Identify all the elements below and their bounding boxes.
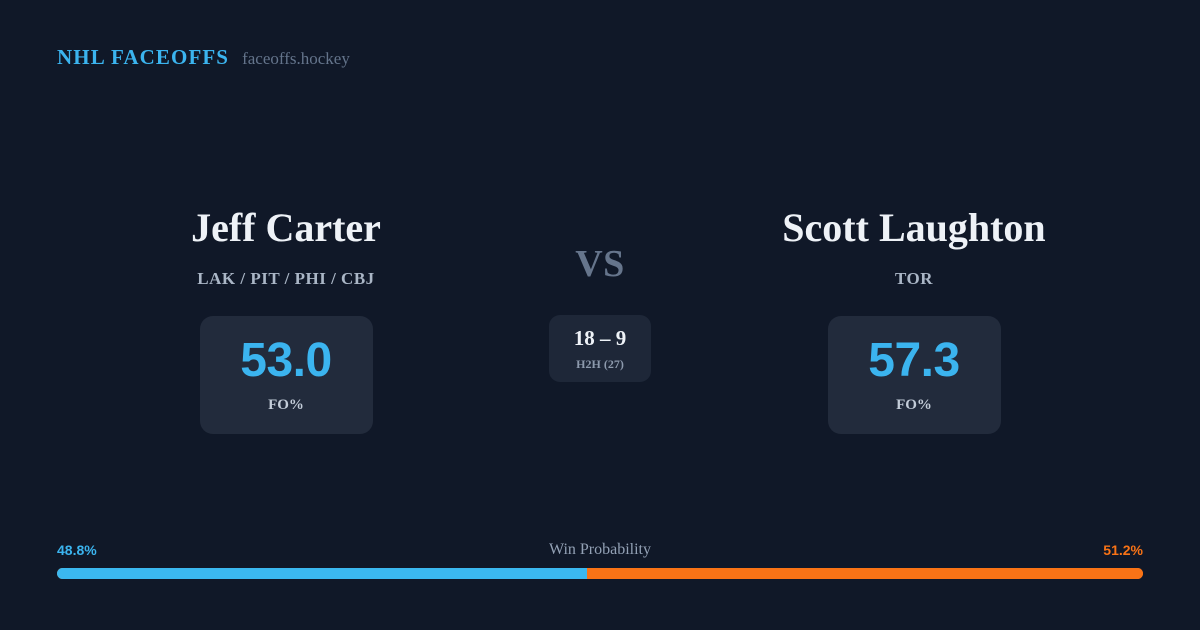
versus-column: VS 18 – 9 H2H (27) xyxy=(500,190,700,382)
head-to-head-label: H2H (27) xyxy=(576,358,624,370)
win-probability-bar-left xyxy=(57,568,587,579)
brand-title: NHL FACEOFFS xyxy=(57,47,229,68)
stat-value-left: 53.0 xyxy=(240,337,331,385)
stat-card-left: 53.0 FO% xyxy=(200,316,373,434)
win-probability-labels: 48.8% Win Probability 51.2% xyxy=(57,540,1143,560)
head-to-head-score: 18 – 9 xyxy=(574,328,627,349)
win-probability-right-value: 51.2% xyxy=(1103,540,1143,560)
win-probability-bar-right xyxy=(587,568,1143,579)
brand-header: NHL FACEOFFS faceoffs.hockey xyxy=(57,47,350,68)
matchup-section: Jeff Carter LAK / PIT / PHI / CBJ 53.0 F… xyxy=(0,190,1200,440)
player-panel-left: Jeff Carter LAK / PIT / PHI / CBJ 53.0 F… xyxy=(46,190,526,434)
win-probability-bar xyxy=(57,568,1143,579)
stat-label-left: FO% xyxy=(268,398,304,413)
stat-value-right: 57.3 xyxy=(868,337,959,385)
stat-card-right: 57.3 FO% xyxy=(828,316,1001,434)
win-probability-title: Win Probability xyxy=(57,540,1143,560)
win-probability-section: 48.8% Win Probability 51.2% xyxy=(57,540,1143,579)
player-panel-right: Scott Laughton TOR 57.3 FO% xyxy=(674,190,1154,434)
player-name-left: Jeff Carter xyxy=(191,208,381,248)
brand-subtitle: faceoffs.hockey xyxy=(242,50,350,67)
player-name-right: Scott Laughton xyxy=(782,208,1045,248)
player-teams-left: LAK / PIT / PHI / CBJ xyxy=(197,270,374,287)
matchup-graphic: NHL FACEOFFS faceoffs.hockey Jeff Carter… xyxy=(0,0,1200,630)
vs-label: VS xyxy=(575,245,625,283)
head-to-head-badge: 18 – 9 H2H (27) xyxy=(549,315,651,382)
stat-label-right: FO% xyxy=(896,398,932,413)
player-teams-right: TOR xyxy=(895,270,933,287)
